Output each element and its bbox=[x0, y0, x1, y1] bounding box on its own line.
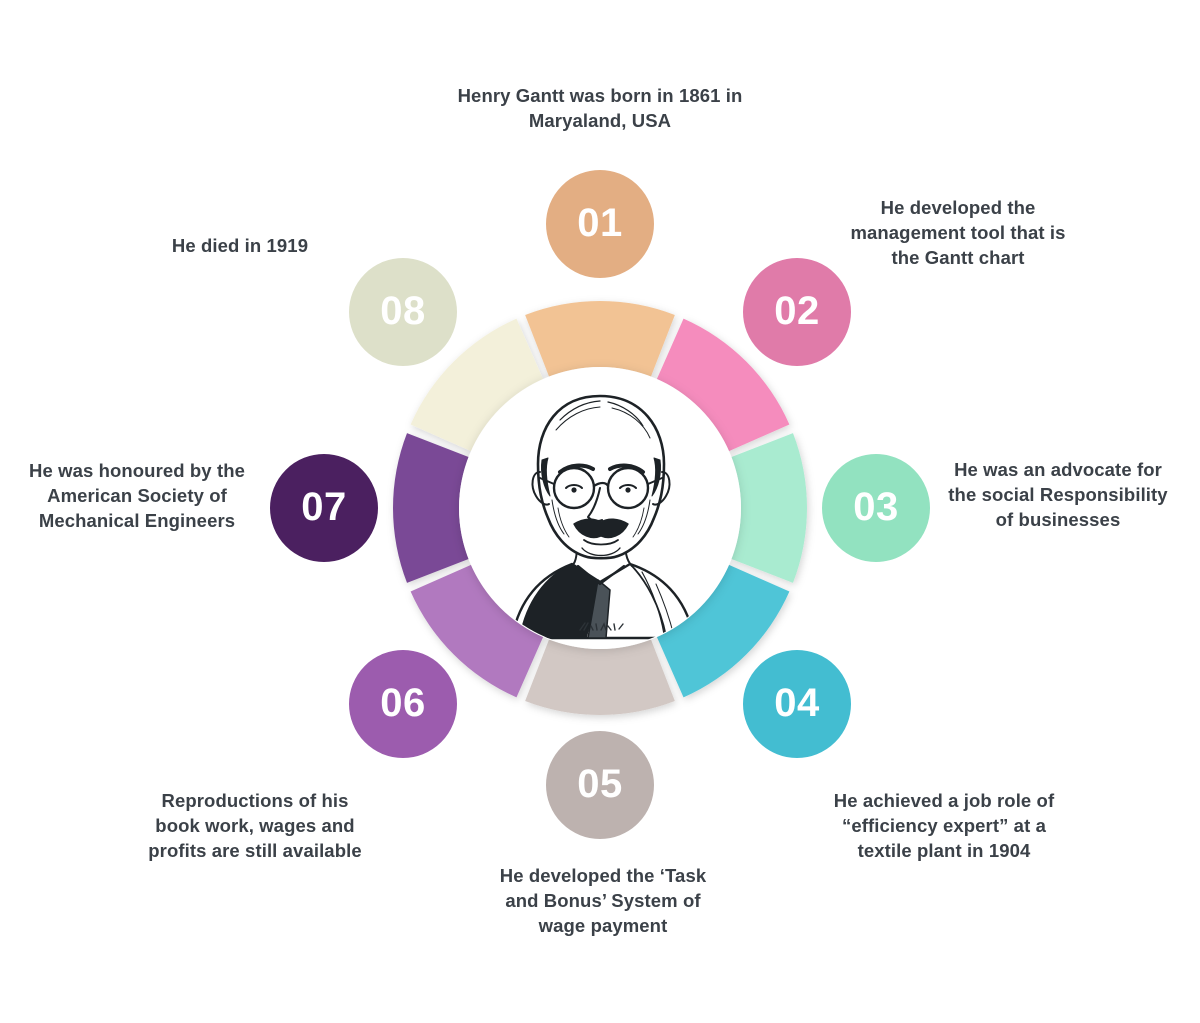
badge-number-label: 06 bbox=[380, 683, 426, 723]
wheel-segment-07[interactable] bbox=[393, 433, 469, 583]
badge-number-label: 04 bbox=[774, 683, 820, 723]
badge-06[interactable]: 06 bbox=[346, 647, 460, 761]
badge-05[interactable]: 05 bbox=[543, 728, 657, 842]
badge-number-label: 05 bbox=[577, 764, 623, 804]
caption-03: He was an advocate for the social Respon… bbox=[948, 458, 1168, 533]
badge-07[interactable]: 07 bbox=[267, 451, 381, 565]
caption-04: He achieved a job role of “efficiency ex… bbox=[820, 789, 1068, 864]
caption-07: He was honoured by the American Society … bbox=[26, 459, 248, 534]
badge-number-label: 07 bbox=[301, 487, 347, 527]
infographic-root: 0102030405060708 Henry Gantt was born in… bbox=[0, 0, 1200, 1023]
badge-08[interactable]: 08 bbox=[346, 255, 460, 369]
center-portrait-disc bbox=[460, 368, 740, 648]
henry-gantt-portrait bbox=[460, 368, 740, 648]
badge-number-label: 01 bbox=[577, 203, 623, 243]
wheel-segment-03[interactable] bbox=[731, 433, 807, 583]
badge-01[interactable]: 01 bbox=[543, 167, 657, 281]
wheel-segment-05[interactable] bbox=[525, 639, 675, 715]
caption-06: Reproductions of his book work, wages an… bbox=[138, 789, 372, 864]
badge-04[interactable]: 04 bbox=[740, 647, 854, 761]
caption-02: He developed the management tool that is… bbox=[842, 196, 1074, 271]
badge-number-label: 08 bbox=[380, 291, 426, 331]
caption-01: Henry Gantt was born in 1861 in Maryalan… bbox=[448, 84, 752, 134]
caption-05: He developed the ‘Task and Bonus’ System… bbox=[490, 864, 716, 939]
badge-02[interactable]: 02 bbox=[740, 255, 854, 369]
wheel-segment-01[interactable] bbox=[525, 301, 675, 377]
caption-08: He died in 1919 bbox=[132, 234, 348, 259]
badge-number-label: 02 bbox=[774, 291, 820, 331]
badge-number-label: 03 bbox=[853, 487, 899, 527]
badge-03[interactable]: 03 bbox=[819, 451, 933, 565]
